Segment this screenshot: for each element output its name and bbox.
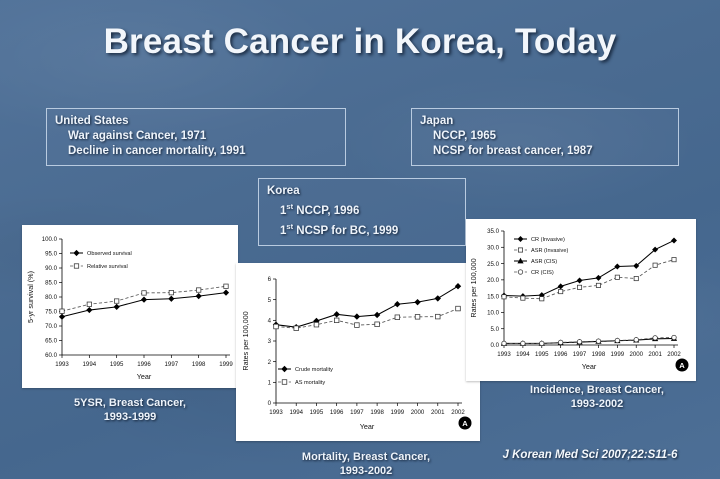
slide-background: Breast Cancer in Korea, Today United Sta… xyxy=(0,0,720,479)
x-axis-tick-label: 1994 xyxy=(516,351,530,358)
legend-label: Observed survival xyxy=(87,251,132,257)
data-point-marker xyxy=(634,338,639,343)
x-axis-tick-label: 1996 xyxy=(554,351,568,358)
data-point-marker xyxy=(540,341,545,346)
x-axis-tick-label: 1996 xyxy=(330,409,344,416)
y-axis-tick-label: 70.0 xyxy=(45,323,57,330)
x-axis-tick-label: 1993 xyxy=(269,409,283,416)
data-point-marker xyxy=(577,278,582,283)
data-point-marker xyxy=(196,294,201,299)
chart-incidence: 0.05.010.015.020.025.030.035.01993199419… xyxy=(466,219,696,381)
y-axis-tick-label: 75.0 xyxy=(45,309,57,316)
data-point-marker xyxy=(518,237,523,242)
data-point-marker xyxy=(521,341,526,346)
y-axis-label: Rates per 100,000 xyxy=(469,258,478,317)
y-axis-tick-label: 30.0 xyxy=(487,244,499,251)
y-axis-tick-label: 20.0 xyxy=(487,277,499,284)
data-point-marker xyxy=(615,264,620,269)
callout-line: 1st NCCP, 1996 xyxy=(267,199,457,219)
data-point-marker xyxy=(87,302,91,306)
data-point-marker xyxy=(615,275,619,279)
callout-line: NCSP for breast cancer, 1987 xyxy=(420,144,670,159)
data-point-marker xyxy=(114,304,119,309)
data-point-marker xyxy=(435,296,440,301)
caption-incidence: Incidence, Breast Cancer, 1993-2002 xyxy=(482,383,712,411)
data-point-marker xyxy=(223,290,228,295)
y-axis-tick-label: 80.0 xyxy=(45,294,57,301)
x-axis-tick-label: 1994 xyxy=(83,361,97,368)
legend-label: ASR (CIS) xyxy=(531,259,557,265)
y-axis-tick-label: 85.0 xyxy=(45,280,57,287)
x-axis-tick-label: 1997 xyxy=(573,351,587,358)
data-point-marker xyxy=(521,296,525,300)
data-point-marker xyxy=(141,297,146,302)
data-point-marker xyxy=(59,314,64,319)
y-axis-tick-label: 95.0 xyxy=(45,251,57,258)
journal-citation: J Korean Med Sci 2007;22:S11-6 xyxy=(470,449,710,461)
y-axis-tick-label: 5.0 xyxy=(491,326,500,333)
caption-mortality: Mortality, Breast Cancer, 1993-2002 xyxy=(250,450,482,478)
chart-legend: Observed survivalRelative survival xyxy=(70,250,132,270)
callout-line: NCCP, 1965 xyxy=(420,129,670,144)
caption-line: 1993-1999 xyxy=(14,410,246,424)
chart-series xyxy=(274,306,461,330)
legend-label: ASR (Invasive) xyxy=(531,248,568,254)
x-axis-tick-label: 1993 xyxy=(497,351,511,358)
data-point-marker xyxy=(435,314,440,319)
data-point-marker xyxy=(559,289,563,293)
data-point-marker xyxy=(596,275,601,280)
x-axis-label: Year xyxy=(582,362,597,371)
data-point-marker xyxy=(60,309,64,313)
caption-line: 5YSR, Breast Cancer, xyxy=(14,396,246,410)
x-axis-tick-label: 2001 xyxy=(431,409,445,416)
data-point-marker xyxy=(634,276,638,280)
data-point-marker xyxy=(169,290,173,294)
y-axis-tick-label: 0 xyxy=(268,400,272,407)
caption-line: Mortality, Breast Cancer, xyxy=(250,450,482,464)
x-axis-tick-label: 2002 xyxy=(451,409,465,416)
y-axis-tick-label: 4 xyxy=(268,318,272,325)
y-axis-tick-label: 35.0 xyxy=(487,228,499,235)
data-point-marker xyxy=(334,318,339,323)
data-point-marker xyxy=(196,288,200,292)
x-axis-tick-label: 1995 xyxy=(310,409,324,416)
data-point-marker xyxy=(653,336,658,341)
x-axis-tick-label: 1997 xyxy=(350,409,364,416)
data-point-marker xyxy=(456,306,461,311)
y-axis-tick-label: 15.0 xyxy=(487,293,499,300)
x-axis-tick-label: 1995 xyxy=(535,351,549,358)
data-point-marker xyxy=(653,263,657,267)
y-axis-tick-label: 3 xyxy=(268,338,272,345)
legend-label: CR (CIS) xyxy=(531,270,554,276)
callout-line: 1st NCSP for BC, 1999 xyxy=(267,219,457,239)
data-point-marker xyxy=(114,299,118,303)
chart-panel-mortality: 0123456199319941995199619971998199920002… xyxy=(236,263,480,441)
caption-survival: 5YSR, Breast Cancer, 1993-1999 xyxy=(14,396,246,424)
panel-badge-label: A xyxy=(679,361,685,370)
y-axis-tick-label: 2 xyxy=(268,359,272,366)
data-point-marker xyxy=(395,315,400,320)
data-point-marker xyxy=(415,299,420,304)
legend-label: CR (Invasive) xyxy=(531,237,565,243)
callout-line: Decline in cancer mortality, 1991 xyxy=(55,144,337,159)
chart-survival: 60.065.070.075.080.085.090.095.0100.0199… xyxy=(22,225,238,388)
callout-korea: Korea 1st NCCP, 1996 1st NCSP for BC, 19… xyxy=(258,178,466,246)
legend-label: Crude mortality xyxy=(295,367,333,373)
data-point-marker xyxy=(558,284,563,289)
chart-series xyxy=(273,284,460,330)
y-axis-tick-label: 6 xyxy=(268,276,272,283)
callout-line-text: 1st NCSP for BC, 1999 xyxy=(280,225,398,237)
x-axis-tick-label: 1999 xyxy=(611,351,625,358)
y-axis-tick-label: 1 xyxy=(268,380,272,387)
data-point-marker xyxy=(596,339,601,344)
data-point-marker xyxy=(274,324,279,329)
x-axis-tick-label: 1993 xyxy=(55,361,69,368)
data-point-marker xyxy=(395,302,400,307)
callout-heading: Korea xyxy=(267,184,457,199)
data-point-marker xyxy=(282,366,287,371)
y-axis-label: 5-yr survival (%) xyxy=(26,271,35,323)
y-axis-tick-label: 25.0 xyxy=(487,261,499,268)
callout-line-text: 1st NCCP, 1996 xyxy=(280,205,359,217)
legend-label: AS mortality xyxy=(295,380,325,386)
callout-united-states: United States War against Cancer, 1971 D… xyxy=(46,108,346,166)
x-axis-tick-label: 1995 xyxy=(110,361,124,368)
data-point-marker xyxy=(615,338,620,343)
y-axis-tick-label: 10.0 xyxy=(487,310,499,317)
y-axis-tick-label: 5 xyxy=(268,297,272,304)
y-axis-tick-label: 90.0 xyxy=(45,265,57,272)
callout-line: War against Cancer, 1971 xyxy=(55,129,337,144)
x-axis-tick-label: 1998 xyxy=(592,351,606,358)
y-axis-tick-label: 65.0 xyxy=(45,338,57,345)
panel-badge-label: A xyxy=(462,419,468,428)
data-point-marker xyxy=(502,295,506,299)
data-point-marker xyxy=(375,322,380,327)
chart-panel-survival: 60.065.070.075.080.085.090.095.0100.0199… xyxy=(22,225,238,388)
data-point-marker xyxy=(354,314,359,319)
x-axis-tick-label: 1999 xyxy=(219,361,233,368)
chart-mortality: 0123456199319941995199619971998199920002… xyxy=(236,263,480,441)
x-axis-tick-label: 1999 xyxy=(391,409,405,416)
data-point-marker xyxy=(314,322,319,327)
data-point-marker xyxy=(415,315,420,320)
x-axis-label: Year xyxy=(360,422,375,431)
data-point-marker xyxy=(294,326,299,331)
data-point-marker xyxy=(672,238,677,243)
x-axis-tick-label: 1998 xyxy=(370,409,384,416)
chart-legend: Crude mortalityAS mortality xyxy=(278,366,333,386)
data-point-marker xyxy=(334,312,339,317)
caption-line: 1993-2002 xyxy=(250,464,482,478)
caption-line: Incidence, Breast Cancer, xyxy=(482,383,712,397)
data-point-marker xyxy=(455,284,460,289)
y-axis-tick-label: 0.0 xyxy=(491,342,500,349)
callout-heading: United States xyxy=(55,114,337,129)
x-axis-tick-label: 1996 xyxy=(137,361,151,368)
y-axis-tick-label: 100.0 xyxy=(42,236,58,243)
data-point-marker xyxy=(596,283,600,287)
x-axis-tick-label: 2001 xyxy=(648,351,662,358)
data-point-marker xyxy=(518,248,522,252)
chart-legend: CR (Invasive)ASR (Invasive)ASR (CIS)CR (… xyxy=(514,237,568,277)
data-point-marker xyxy=(87,307,92,312)
data-point-marker xyxy=(672,335,677,340)
y-axis-label: Rates per 100,000 xyxy=(241,311,250,370)
data-point-marker xyxy=(518,270,523,275)
data-point-marker xyxy=(169,296,174,301)
callout-japan: Japan NCCP, 1965 NCSP for breast cancer,… xyxy=(411,108,679,166)
caption-line: 1993-2002 xyxy=(482,397,712,411)
data-point-marker xyxy=(74,264,78,268)
data-point-marker xyxy=(502,341,507,346)
legend-label: Relative survival xyxy=(87,264,128,270)
x-axis-tick-label: 1998 xyxy=(192,361,206,368)
x-axis-tick-label: 1994 xyxy=(289,409,303,416)
data-point-marker xyxy=(558,340,563,345)
x-axis-tick-label: 1997 xyxy=(165,361,179,368)
data-point-marker xyxy=(142,291,146,295)
data-point-marker xyxy=(374,312,379,317)
data-point-marker xyxy=(577,339,582,344)
x-axis-tick-label: 2002 xyxy=(667,351,681,358)
data-point-marker xyxy=(224,284,228,288)
chart-series xyxy=(502,335,677,345)
data-point-marker xyxy=(74,250,79,255)
data-point-marker xyxy=(540,297,544,301)
callout-heading: Japan xyxy=(420,114,670,129)
data-point-marker xyxy=(577,285,581,289)
x-axis-tick-label: 2000 xyxy=(629,351,643,358)
x-axis-tick-label: 2000 xyxy=(411,409,425,416)
data-point-marker xyxy=(282,380,287,385)
x-axis-label: Year xyxy=(137,372,152,381)
page-title: Breast Cancer in Korea, Today xyxy=(0,22,720,62)
chart-panel-incidence: 0.05.010.015.020.025.030.035.01993199419… xyxy=(466,219,696,381)
chart-series xyxy=(502,336,677,345)
y-axis-tick-label: 60.0 xyxy=(45,352,57,359)
data-point-marker xyxy=(672,258,676,262)
data-point-marker xyxy=(355,323,360,328)
